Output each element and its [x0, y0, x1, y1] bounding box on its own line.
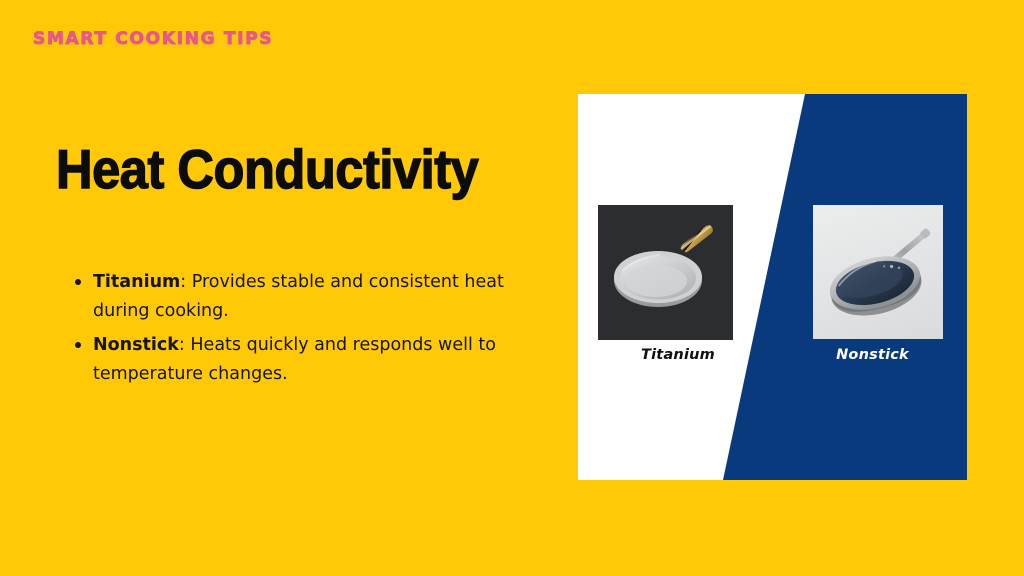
bullet-lead: Nonstick [93, 335, 179, 355]
panel-side-nonstick: Nonstick [778, 94, 967, 480]
nonstick-pan-illustration [813, 205, 943, 339]
bullet-list: Titanium: Provides stable and consistent… [70, 268, 520, 394]
panel-side-titanium: Titanium [578, 94, 778, 480]
titanium-pan-illustration [598, 205, 733, 340]
list-item: Nonstick: Heats quickly and responds wel… [70, 331, 520, 389]
bullet-dot-icon [75, 342, 81, 348]
bullet-separator: : [179, 335, 190, 355]
bullet-dot-icon [75, 279, 81, 285]
comparison-panel: Titanium [578, 94, 967, 480]
titanium-pan-image [598, 205, 733, 340]
nonstick-pan-image [813, 205, 943, 339]
list-item: Titanium: Provides stable and consistent… [70, 268, 520, 326]
nonstick-caption: Nonstick [778, 347, 967, 363]
kicker-label: Smart Cooking Tips [33, 29, 273, 49]
bullet-lead: Titanium [93, 272, 180, 292]
page-title: Heat Conductivity [56, 140, 478, 198]
titanium-caption: Titanium [578, 347, 778, 363]
bullet-separator: : [180, 272, 191, 292]
slide-canvas: Smart Cooking Tips Heat Conductivity Tit… [0, 0, 1024, 576]
